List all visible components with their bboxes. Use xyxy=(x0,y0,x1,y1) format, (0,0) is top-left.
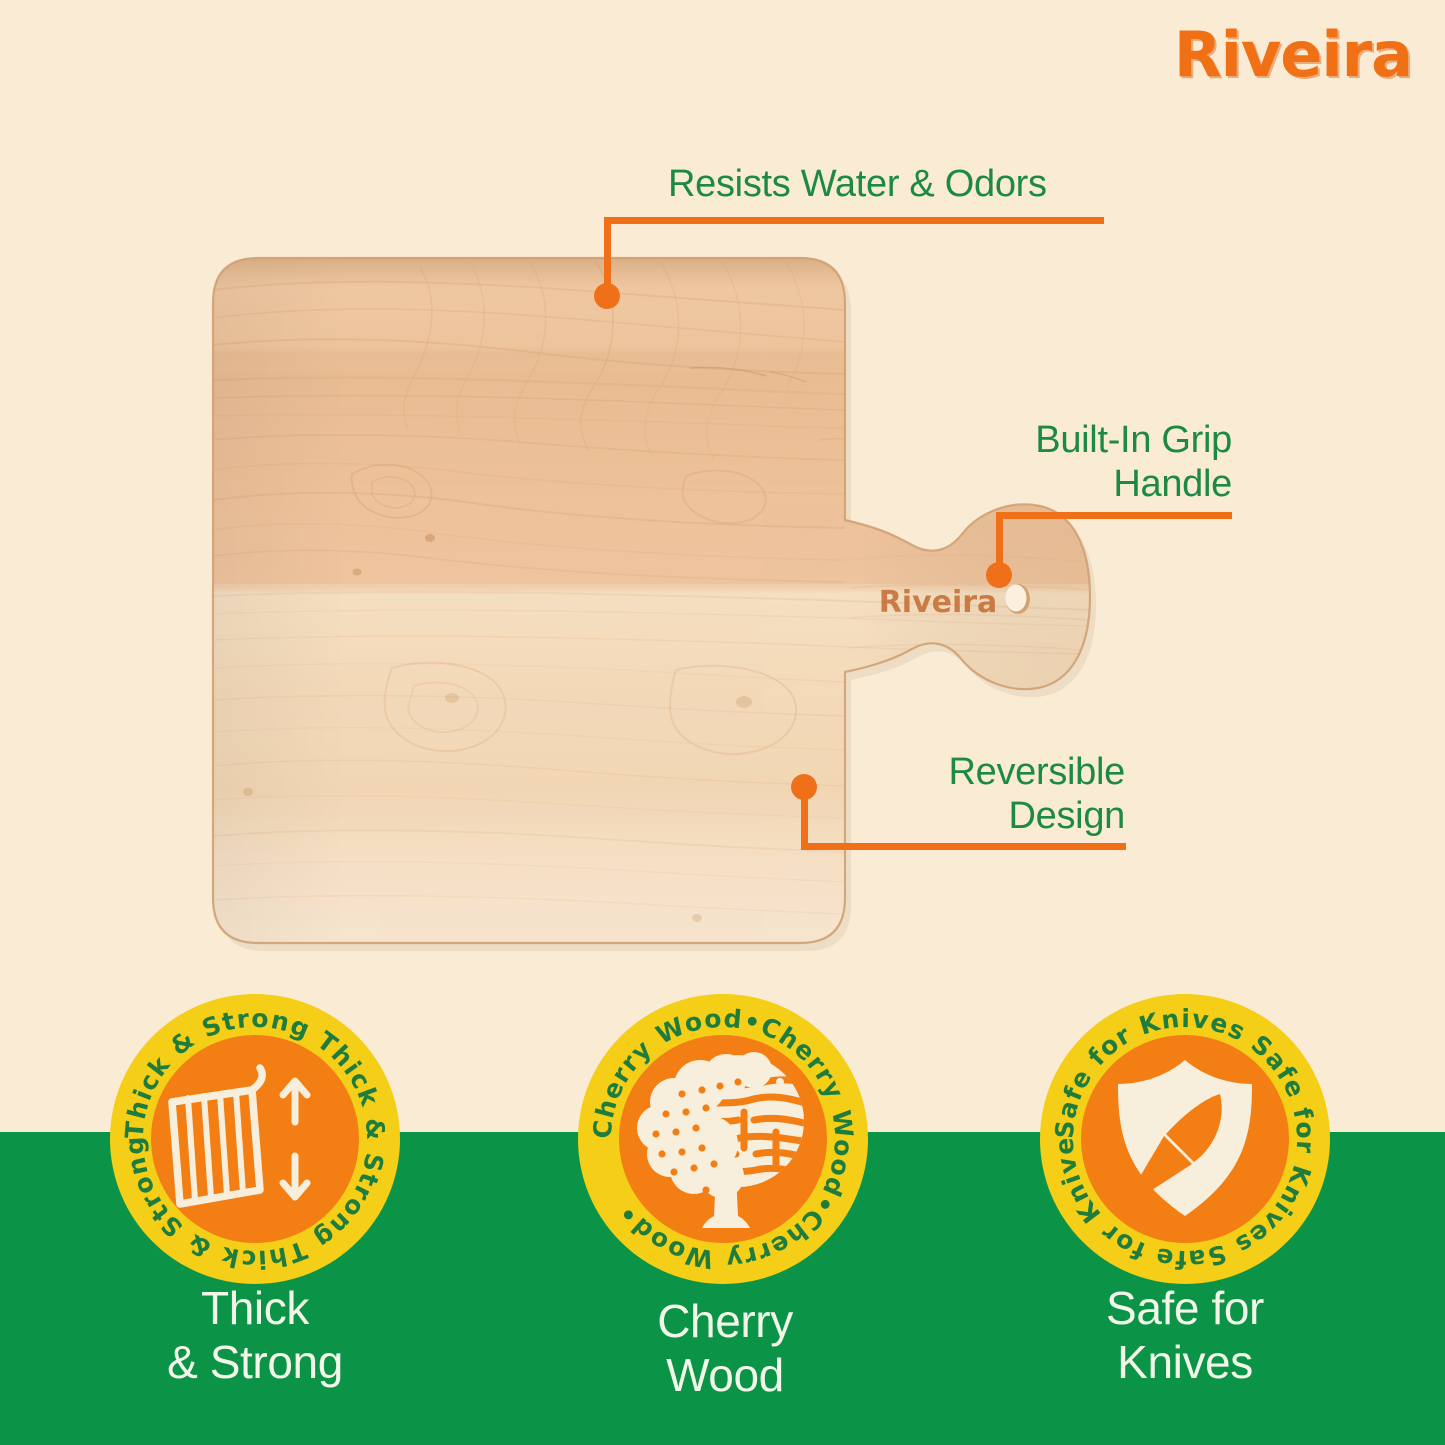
badge-caption-safe-for-knives: Safe for Knives xyxy=(1035,1282,1335,1390)
badge-caption-cherry-wood: Cherry Wood xyxy=(575,1295,875,1403)
badge-safe-for-knives: Safe for Knives Safe for Knives Safe for… xyxy=(1040,994,1330,1284)
feature-badges-row: Thick & Strong Thick & Strong Thick & St… xyxy=(0,994,1445,1294)
leader-line-2-horizontal xyxy=(996,512,1232,519)
badge-caption-thick-and-strong: Thick & Strong xyxy=(105,1282,405,1390)
callout-label-built-in-grip-handle: Built-In Grip Handle xyxy=(930,418,1232,506)
leader-line-3-horizontal xyxy=(801,843,1126,850)
badge-thick-and-strong: Thick & Strong Thick & Strong Thick & St… xyxy=(110,994,400,1284)
callout-label-reversible-design: Reversible Design xyxy=(850,750,1125,838)
leader-line-1-horizontal xyxy=(604,217,1104,224)
callout-label-resists-water-odors: Resists Water & Odors xyxy=(668,162,1047,206)
leader-dot-2 xyxy=(986,562,1012,588)
infographic-canvas: Riveira xyxy=(0,0,1445,1445)
leader-dot-1 xyxy=(594,283,620,309)
engraved-brand-logo: Riveira xyxy=(879,585,998,620)
badge-cherry-wood: Cherry Wood•Cherry Wood•Cherry Wood• xyxy=(578,994,868,1284)
leader-line-3-vertical xyxy=(801,787,808,849)
